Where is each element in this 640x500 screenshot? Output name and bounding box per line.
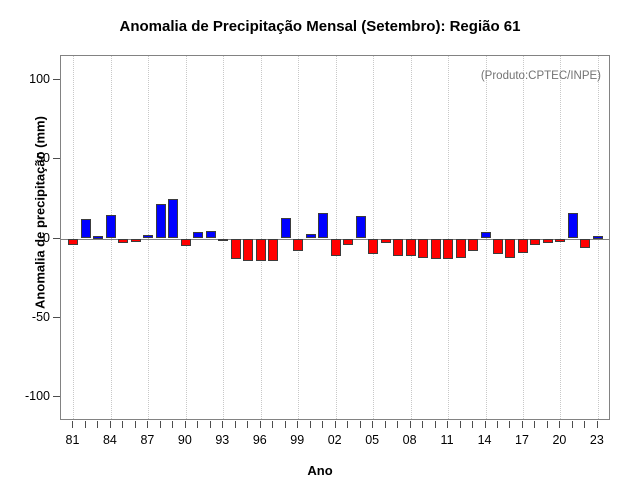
- x-tick-label: 02: [328, 433, 342, 447]
- bar-1993: [218, 239, 228, 242]
- x-tick-mark: [235, 421, 236, 428]
- y-tick-mark: [53, 317, 60, 318]
- x-tick-mark: [572, 421, 573, 428]
- gridline-vertical: [336, 56, 338, 419]
- bar-1992: [206, 231, 216, 239]
- bar-1997: [268, 239, 278, 261]
- gridline-vertical: [523, 56, 525, 419]
- x-tick-mark: [172, 421, 173, 428]
- bar-1988: [156, 204, 166, 239]
- bar-2014: [481, 232, 491, 238]
- bar-1995: [243, 239, 253, 261]
- bar-2019: [543, 239, 553, 244]
- gridline-vertical: [186, 56, 188, 419]
- x-tick-mark: [197, 421, 198, 428]
- x-tick-mark: [122, 421, 123, 428]
- bar-2020: [555, 239, 565, 242]
- bar-2011: [443, 239, 453, 260]
- x-tick-mark: [160, 421, 161, 428]
- x-tick-mark: [322, 421, 323, 428]
- bar-2010: [431, 239, 441, 260]
- x-tick-mark: [135, 421, 136, 428]
- x-tick-mark: [147, 421, 148, 428]
- x-tick-mark: [110, 421, 111, 428]
- x-tick-label: 17: [515, 433, 529, 447]
- plot-area: (Produto:CPTEC/INPE): [60, 55, 610, 420]
- bar-2021: [568, 213, 578, 238]
- bar-1986: [131, 239, 141, 242]
- x-tick-mark: [385, 421, 386, 428]
- x-tick-label: 23: [590, 433, 604, 447]
- x-tick-label: 93: [215, 433, 229, 447]
- bar-1987: [143, 235, 153, 238]
- bar-2002: [331, 239, 341, 256]
- x-tick-label: 81: [66, 433, 80, 447]
- x-tick-mark: [297, 421, 298, 428]
- bar-1981: [68, 239, 78, 245]
- x-tick-mark: [210, 421, 211, 428]
- bar-2009: [418, 239, 428, 258]
- x-tick-mark: [335, 421, 336, 428]
- bar-2023: [593, 236, 603, 239]
- bar-2003: [343, 239, 353, 245]
- bar-2004: [356, 216, 366, 238]
- x-tick-mark: [522, 421, 523, 428]
- x-tick-mark: [559, 421, 560, 428]
- y-tick-mark: [53, 79, 60, 80]
- bar-2007: [393, 239, 403, 256]
- x-tick-label: 14: [478, 433, 492, 447]
- bar-2006: [381, 239, 391, 244]
- bar-2022: [580, 239, 590, 249]
- x-tick-mark: [410, 421, 411, 428]
- gridline-vertical: [448, 56, 450, 419]
- x-tick-mark: [222, 421, 223, 428]
- x-tick-mark: [372, 421, 373, 428]
- bar-1985: [118, 239, 128, 244]
- x-tick-label: 87: [140, 433, 154, 447]
- x-tick-mark: [97, 421, 98, 428]
- y-tick-mark: [53, 396, 60, 397]
- bar-1983: [93, 236, 103, 239]
- x-tick-label: 96: [253, 433, 267, 447]
- gridline-vertical: [560, 56, 562, 419]
- x-tick-mark: [185, 421, 186, 428]
- x-tick-mark: [260, 421, 261, 428]
- x-tick-mark: [360, 421, 361, 428]
- bar-1991: [193, 232, 203, 238]
- bar-1996: [256, 239, 266, 261]
- x-axis-title: Ano: [0, 463, 640, 478]
- x-tick-mark: [85, 421, 86, 428]
- y-axis-title: Anomalia de precipitação (mm): [33, 63, 48, 363]
- x-tick-mark: [534, 421, 535, 428]
- bar-2008: [406, 239, 416, 256]
- gridline-vertical: [73, 56, 75, 419]
- x-tick-mark: [285, 421, 286, 428]
- bar-2000: [306, 234, 316, 239]
- x-tick-label: 05: [365, 433, 379, 447]
- bar-2013: [468, 239, 478, 252]
- bar-1989: [168, 199, 178, 239]
- x-tick-mark: [584, 421, 585, 428]
- gridline-vertical: [373, 56, 375, 419]
- chart-root: Anomalia de Precipitação Mensal (Setembr…: [0, 0, 640, 500]
- x-tick-mark: [247, 421, 248, 428]
- gridline-vertical: [223, 56, 225, 419]
- x-tick-mark: [485, 421, 486, 428]
- bar-2015: [493, 239, 503, 255]
- x-tick-mark: [597, 421, 598, 428]
- bar-1990: [181, 239, 191, 247]
- bar-1998: [281, 218, 291, 239]
- bar-2001: [318, 213, 328, 238]
- x-tick-mark: [435, 421, 436, 428]
- product-annotation: (Produto:CPTEC/INPE): [481, 70, 601, 82]
- bar-1984: [106, 215, 116, 239]
- x-tick-mark: [397, 421, 398, 428]
- gridline-vertical: [411, 56, 413, 419]
- chart-title: Anomalia de Precipitação Mensal (Setembr…: [0, 18, 640, 35]
- x-tick-label: 20: [552, 433, 566, 447]
- x-tick-label: 99: [290, 433, 304, 447]
- x-tick-mark: [422, 421, 423, 428]
- x-tick-mark: [347, 421, 348, 428]
- bar-2018: [530, 239, 540, 245]
- bar-2017: [518, 239, 528, 253]
- x-tick-mark: [310, 421, 311, 428]
- x-tick-mark: [72, 421, 73, 428]
- bar-1982: [81, 219, 91, 238]
- bar-2005: [368, 239, 378, 255]
- bar-2012: [456, 239, 466, 258]
- bar-1994: [231, 239, 241, 260]
- x-tick-mark: [272, 421, 273, 428]
- x-tick-label: 90: [178, 433, 192, 447]
- x-tick-mark: [472, 421, 473, 428]
- x-tick-mark: [509, 421, 510, 428]
- y-tick-mark: [53, 158, 60, 159]
- y-tick-mark: [53, 238, 60, 239]
- x-tick-label: 84: [103, 433, 117, 447]
- x-tick-label: 08: [403, 433, 417, 447]
- x-tick-mark: [460, 421, 461, 428]
- gridline-vertical: [298, 56, 300, 419]
- x-tick-mark: [447, 421, 448, 428]
- bar-1999: [293, 239, 303, 252]
- x-tick-mark: [497, 421, 498, 428]
- gridline-vertical: [261, 56, 263, 419]
- x-tick-mark: [547, 421, 548, 428]
- y-tick-label: -100: [8, 389, 50, 403]
- bar-2016: [505, 239, 515, 258]
- x-tick-label: 11: [441, 433, 454, 447]
